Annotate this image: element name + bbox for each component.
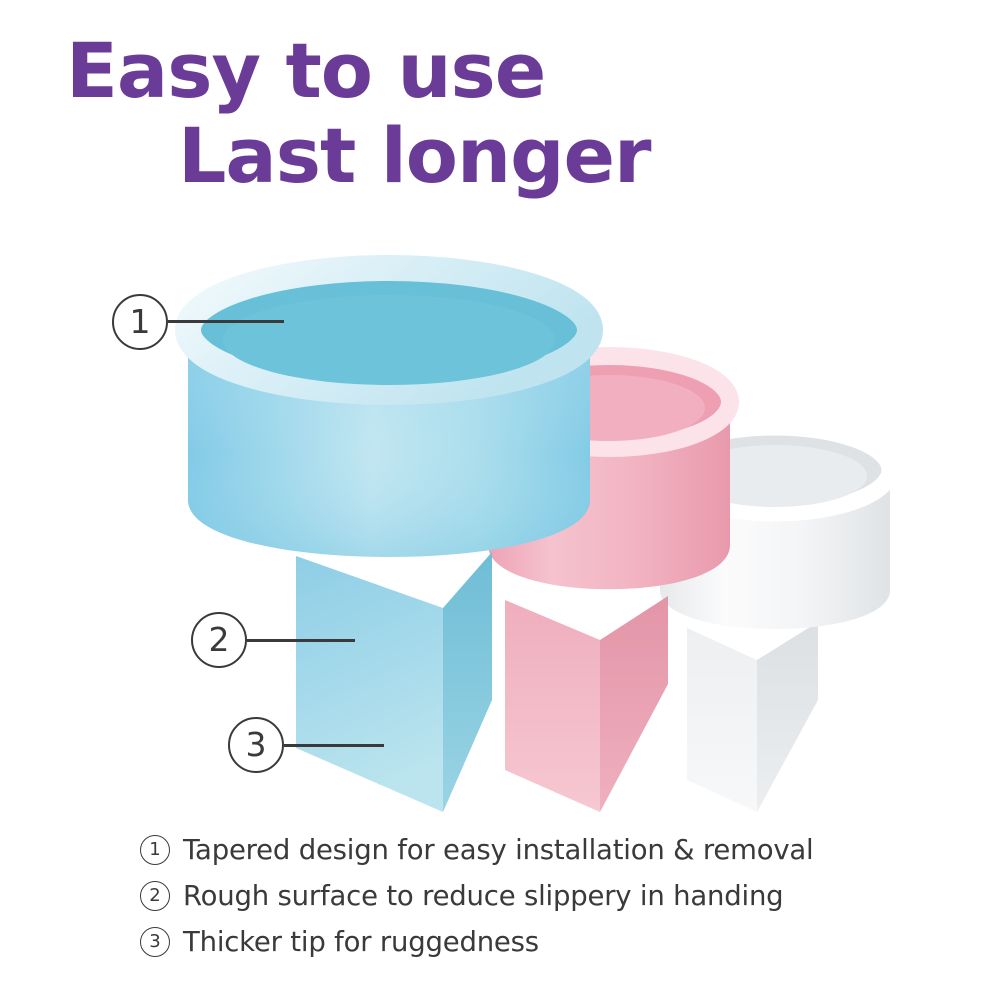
pink-tip-right-facet [600, 596, 668, 812]
callout-marker-2[interactable]: 2 [191, 612, 247, 668]
callout-leader-line-1 [168, 320, 284, 323]
callout-leader-line-3 [284, 744, 384, 747]
white-tip-right-facet [757, 622, 818, 812]
legend-item-1: 1 Tapered design for easy installation &… [140, 832, 940, 868]
blue-cup-inner-bottom [223, 295, 555, 385]
legend-list: 1 Tapered design for easy installation &… [140, 832, 940, 970]
legend-marker-2: 2 [140, 881, 170, 911]
legend-text-1: Tapered design for easy installation & r… [183, 834, 814, 866]
legend-marker-3: 3 [140, 927, 170, 957]
pink-tip-left-facet [505, 600, 600, 812]
legend-text-3: Thicker tip for ruggedness [183, 926, 539, 958]
blue-tip-right-facet [443, 552, 492, 812]
callout-marker-1[interactable]: 1 [112, 294, 168, 350]
callout-marker-3[interactable]: 3 [228, 717, 284, 773]
blue-tip-left-facet [296, 556, 443, 812]
legend-item-2: 2 Rough surface to reduce slippery in ha… [140, 878, 940, 914]
legend-marker-1: 1 [140, 835, 170, 865]
callout-leader-line-2 [247, 639, 355, 642]
legend-item-3: 3 Thicker tip for ruggedness [140, 924, 940, 960]
infographic-page: Easy to use Last longer [0, 0, 1000, 1000]
legend-text-2: Rough surface to reduce slippery in hand… [183, 880, 783, 912]
white-tip-left-facet [687, 628, 757, 812]
